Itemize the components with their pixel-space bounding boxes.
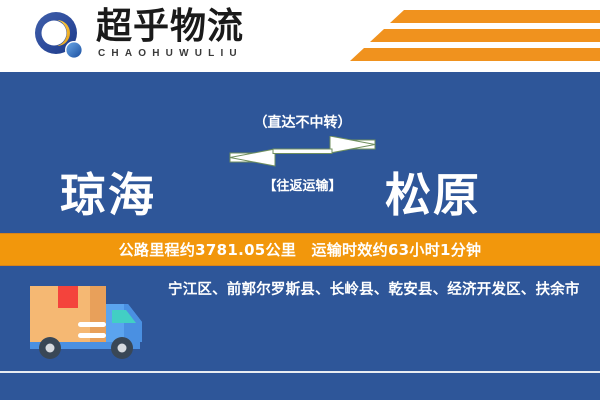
route-section: 琼海 （直达不中转） 【往返运输】 松原 <box>0 74 600 233</box>
direct-shipping-note: （直达不中转） <box>225 114 380 132</box>
stripe-2 <box>370 29 600 42</box>
delivery-truck-icon <box>28 280 156 366</box>
origin-city: 琼海 <box>60 159 156 225</box>
coverage-section: 宁江区、前郭尔罗斯县、长岭县、乾安县、经济开发区、扶余市 <box>0 266 600 400</box>
distance-duration-bar: 公路里程约3781.05公里 运输时效约63小时1分钟 <box>0 233 600 266</box>
stripe-1 <box>390 10 600 23</box>
route-middle-group: （直达不中转） 【往返运输】 <box>225 114 380 234</box>
round-trip-note: 【往返运输】 <box>225 178 380 196</box>
brand-name-en: CHAOHUWULIU <box>96 47 276 60</box>
circle-crescent-logo-icon <box>33 11 89 63</box>
logistics-route-banner: 超乎物流 CHAOHUWULIU 琼海 （直达不中转） <box>0 0 600 400</box>
header-stripes-decoration <box>350 8 600 64</box>
coverage-area-list: 宁江区、前郭尔罗斯县、长岭县、乾安县、经济开发区、扶余市 <box>168 279 586 302</box>
bidirectional-arrow-icon <box>225 136 380 176</box>
destination-city: 松原 <box>385 159 481 225</box>
banner-header: 超乎物流 CHAOHUWULIU <box>0 0 600 72</box>
brand-name-cn: 超乎物流 <box>96 7 276 47</box>
brand-lockup: 超乎物流 CHAOHUWULIU <box>96 7 276 67</box>
distance-duration-text: 公路里程约3781.05公里 运输时效约63小时1分钟 <box>119 239 482 260</box>
stripe-3 <box>350 48 600 61</box>
bottom-divider <box>0 371 600 373</box>
